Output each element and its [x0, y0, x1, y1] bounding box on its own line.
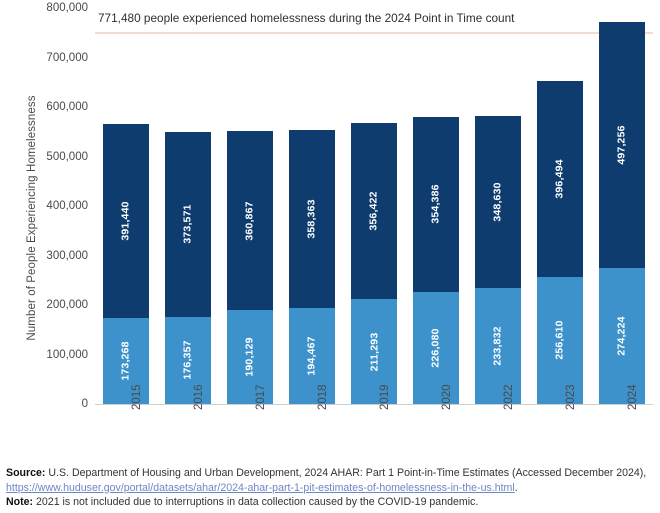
bar-value-label: 194,467: [306, 336, 318, 375]
footnote-source-period: .: [515, 482, 518, 494]
bar-value-label: 497,256: [616, 126, 628, 165]
bar-value-label: 233,832: [492, 326, 504, 365]
bar-segment-unsheltered[interactable]: 354,386: [413, 117, 459, 292]
footnote-note-line: Note: 2021 is not included due to interr…: [6, 495, 654, 510]
footnote-source-line: Source: U.S. Department of Housing and U…: [6, 466, 654, 495]
bar-segment-unsheltered[interactable]: 396,494: [537, 81, 583, 277]
x-tick-label: 2022: [503, 384, 515, 410]
source-url-link[interactable]: https://www.huduser.gov/portal/datasets/…: [6, 482, 515, 494]
bar-group[interactable]: 226,080354,386: [413, 8, 459, 404]
y-tick-label: 700,000: [46, 52, 88, 64]
bar-group[interactable]: 274,224497,256: [599, 8, 645, 404]
bars-container: 173,268391,440176,357373,571190,129360,8…: [95, 8, 653, 404]
x-tick-label: 2017: [255, 384, 267, 410]
y-tick-label: 400,000: [46, 200, 88, 212]
bar-segment-unsheltered[interactable]: 497,256: [599, 22, 645, 268]
bar-segment-unsheltered[interactable]: 373,571: [165, 132, 211, 317]
footnote-note-label: Note:: [6, 496, 33, 508]
chart-figure: Number of People Experiencing Homelessne…: [0, 0, 660, 460]
bar-group[interactable]: 211,293356,422: [351, 8, 397, 404]
y-tick-label: 600,000: [46, 101, 88, 113]
x-tick-label: 2024: [627, 384, 639, 410]
x-axis-tick-labels: 201520162017201820192020202220232024: [95, 406, 653, 460]
bar-group[interactable]: 233,832348,630: [475, 8, 521, 404]
bar-value-label: 348,630: [492, 182, 504, 221]
y-tick-label: 200,000: [46, 299, 88, 311]
footnote: Source: U.S. Department of Housing and U…: [6, 466, 654, 510]
bar-value-label: 360,867: [244, 201, 256, 240]
bar-segment-unsheltered[interactable]: 360,867: [227, 131, 273, 310]
bar-group[interactable]: 176,357373,571: [165, 8, 211, 404]
x-tick-label: 2018: [317, 384, 329, 410]
y-tick-label: 800,000: [46, 2, 88, 14]
bar-value-label: 391,440: [120, 202, 132, 241]
bar-value-label: 373,571: [182, 205, 194, 244]
footnote-source-label: Source:: [6, 467, 45, 479]
plot-area: 173,268391,440176,357373,571190,129360,8…: [95, 8, 653, 404]
x-tick-label: 2016: [193, 384, 205, 410]
bar-value-label: 396,494: [554, 159, 566, 198]
bar-value-label: 190,129: [244, 337, 256, 376]
x-tick-label: 2015: [131, 384, 143, 410]
bar-value-label: 173,268: [120, 341, 132, 380]
bar-value-label: 226,080: [430, 328, 442, 367]
bar-segment-unsheltered[interactable]: 356,422: [351, 123, 397, 299]
x-tick-label: 2019: [379, 384, 391, 410]
bar-value-label: 176,357: [182, 341, 194, 380]
y-axis-tick-labels: 800,000700,000600,000500,000400,000300,0…: [28, 0, 88, 460]
bar-value-label: 211,293: [368, 332, 380, 371]
footnote-source-text: U.S. Department of Housing and Urban Dev…: [45, 467, 646, 479]
bar-group[interactable]: 190,129360,867: [227, 8, 273, 404]
bar-group[interactable]: 173,268391,440: [103, 8, 149, 404]
x-tick-label: 2023: [565, 384, 577, 410]
bar-segment-unsheltered[interactable]: 348,630: [475, 116, 521, 289]
bar-segment-unsheltered[interactable]: 391,440: [103, 124, 149, 318]
y-tick-label: 0: [82, 398, 88, 410]
bar-value-label: 354,386: [430, 185, 442, 224]
bar-value-label: 256,610: [554, 321, 566, 360]
bar-segment-unsheltered[interactable]: 358,363: [289, 130, 335, 307]
y-tick-label: 100,000: [46, 349, 88, 361]
bar-value-label: 358,363: [306, 199, 318, 238]
y-tick-label: 500,000: [46, 151, 88, 163]
bar-value-label: 356,422: [368, 192, 380, 231]
bar-group[interactable]: 194,467358,363: [289, 8, 335, 404]
footnote-note-text: 2021 is not included due to interruption…: [33, 496, 478, 508]
x-tick-label: 2020: [441, 384, 453, 410]
y-tick-label: 300,000: [46, 250, 88, 262]
bar-value-label: 274,224: [616, 316, 628, 355]
bar-group[interactable]: 256,610396,494: [537, 8, 583, 404]
